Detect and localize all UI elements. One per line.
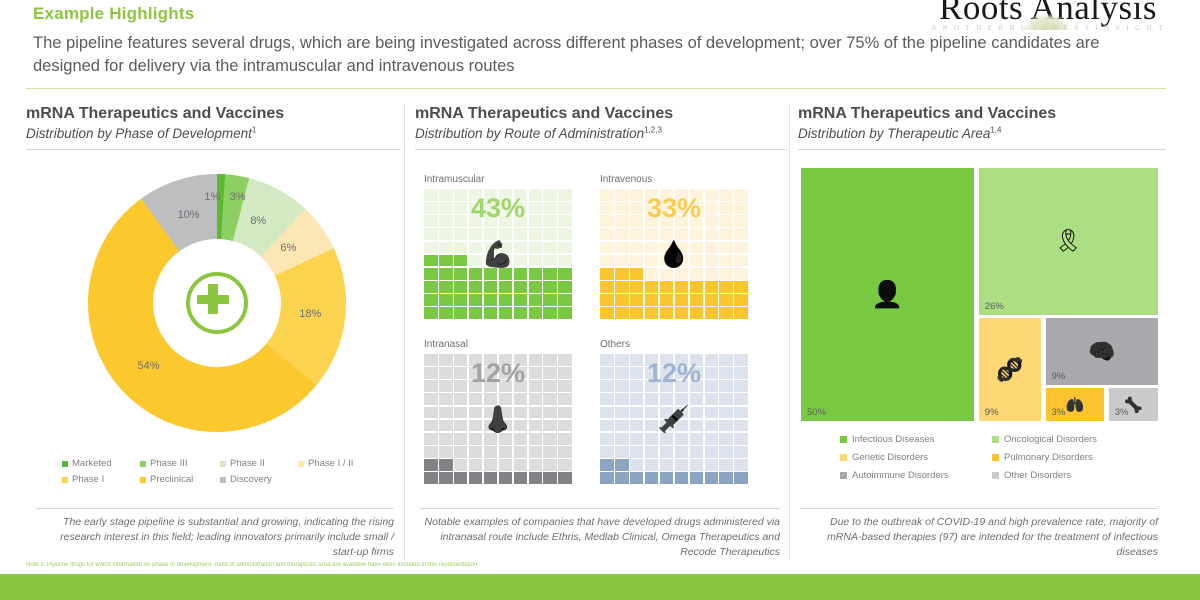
waffle-cell bbox=[600, 294, 614, 306]
waffle-cell bbox=[690, 294, 704, 306]
waffle-cell bbox=[690, 242, 704, 254]
slide: Example Highlights The pipeline features… bbox=[0, 0, 1200, 600]
waffle-cell bbox=[615, 393, 629, 405]
medical-cross-icon bbox=[186, 272, 248, 334]
header-subtitle: The pipeline features several drugs, whi… bbox=[33, 32, 1158, 78]
waffle-cell bbox=[484, 268, 498, 280]
waffle-cell bbox=[499, 472, 513, 484]
waffle-cell bbox=[645, 281, 659, 293]
waffle-cell bbox=[424, 215, 438, 227]
waffle-caption: Intravenous bbox=[600, 174, 748, 185]
waffle-cell bbox=[675, 407, 689, 419]
waffle-cell bbox=[529, 472, 543, 484]
waffle-cell bbox=[705, 393, 719, 405]
waffle-cell bbox=[719, 420, 733, 432]
waffle-cell bbox=[469, 472, 483, 484]
waffle-cell bbox=[719, 228, 733, 240]
waffle-grid: 43%💪 bbox=[424, 189, 572, 319]
waffle-cell bbox=[543, 242, 557, 254]
legend-item-phase-ii[interactable]: Phase II bbox=[220, 458, 298, 469]
waffle-cell bbox=[630, 189, 644, 201]
waffle-cell bbox=[499, 255, 513, 267]
waffle-cell bbox=[630, 420, 644, 432]
legend-item-oncological-disorders[interactable]: Oncological Disorders bbox=[992, 434, 1144, 445]
donut-label-discovery: 10% bbox=[178, 209, 200, 221]
panel-subtitle-footnote-ref: 1,2,3 bbox=[644, 126, 662, 135]
waffle-cell bbox=[454, 189, 468, 201]
head-virus-icon: 👤 bbox=[801, 168, 974, 421]
waffle-cell bbox=[454, 433, 468, 445]
legend-row: Genetic DisordersPulmonary Disorders bbox=[840, 452, 1160, 463]
waffle-intranasal: Intranasal12%👃 bbox=[424, 339, 572, 484]
waffle-cell bbox=[660, 294, 674, 306]
waffle-cell bbox=[660, 242, 674, 254]
waffle-cell bbox=[600, 459, 614, 471]
waffle-cell bbox=[705, 242, 719, 254]
waffle-cell bbox=[734, 367, 748, 379]
legend-label: Phase I / II bbox=[308, 458, 353, 469]
waffle-cell bbox=[499, 354, 513, 366]
waffle-cell bbox=[705, 255, 719, 267]
legend-item-other-disorders[interactable]: Other Disorders bbox=[992, 470, 1144, 481]
panel-divider bbox=[26, 149, 401, 150]
waffle-cell bbox=[454, 393, 468, 405]
legend-item-marketed[interactable]: Marketed bbox=[62, 458, 140, 469]
waffle-cell bbox=[600, 354, 614, 366]
legend-item-discovery[interactable]: Discovery bbox=[220, 474, 298, 485]
treemap-node-value: 50% bbox=[807, 407, 826, 418]
waffle-cell bbox=[454, 446, 468, 458]
waffle-cell bbox=[734, 420, 748, 432]
waffle-cell bbox=[558, 354, 572, 366]
waffle-cell bbox=[645, 433, 659, 445]
waffle-cell bbox=[719, 354, 733, 366]
panel-subtitle-text: Distribution by Route of Administration bbox=[415, 126, 644, 141]
waffle-cell bbox=[615, 380, 629, 392]
waffle-cell bbox=[600, 228, 614, 240]
waffle-cell bbox=[705, 268, 719, 280]
waffle-cell bbox=[734, 354, 748, 366]
waffle-cell bbox=[675, 255, 689, 267]
waffle-cell bbox=[424, 446, 438, 458]
waffle-cell bbox=[734, 459, 748, 471]
waffle-cell bbox=[558, 393, 572, 405]
waffle-cell bbox=[675, 307, 689, 319]
legend-swatch bbox=[140, 477, 146, 483]
legend-row: Autoimmune DisordersOther Disorders bbox=[840, 470, 1160, 481]
waffle-cell bbox=[600, 202, 614, 214]
waffle-cell bbox=[543, 202, 557, 214]
waffle-cell bbox=[660, 255, 674, 267]
treemap-node-value: 3% bbox=[1115, 407, 1129, 418]
waffle-cell bbox=[514, 472, 528, 484]
waffle-cell bbox=[660, 459, 674, 471]
panel-subtitle-footnote-ref: 1,4 bbox=[990, 126, 1001, 135]
waffle-cell bbox=[469, 307, 483, 319]
waffle-cell bbox=[484, 215, 498, 227]
legend-item-genetic-disorders[interactable]: Genetic Disorders bbox=[840, 452, 992, 463]
waffle-cell bbox=[484, 472, 498, 484]
legend-label: Marketed bbox=[72, 458, 112, 469]
legend-label: Preclinical bbox=[150, 474, 193, 485]
waffle-cell bbox=[424, 228, 438, 240]
legend-item-infectious-diseases[interactable]: Infectious Diseases bbox=[840, 434, 992, 445]
waffle-cell bbox=[439, 215, 453, 227]
waffle-cell bbox=[645, 255, 659, 267]
waffle-cell bbox=[469, 407, 483, 419]
waffle-cell bbox=[675, 472, 689, 484]
waffle-cell bbox=[454, 294, 468, 306]
panel-subtitle: Distribution by Therapeutic Area1,4 bbox=[798, 125, 1166, 143]
waffle-cell bbox=[454, 281, 468, 293]
waffle-cell bbox=[645, 268, 659, 280]
panel-phase-of-development: mRNA Therapeutics and Vaccines Distribut… bbox=[26, 104, 401, 150]
waffle-cell bbox=[705, 281, 719, 293]
waffle-cell bbox=[439, 472, 453, 484]
legend-swatch bbox=[62, 461, 68, 467]
waffle-cell bbox=[543, 393, 557, 405]
waffle-cell bbox=[499, 459, 513, 471]
waffle-cell bbox=[514, 294, 528, 306]
waffle-cell bbox=[675, 202, 689, 214]
waffle-cell bbox=[705, 433, 719, 445]
waffle-cell bbox=[514, 268, 528, 280]
waffle-cell bbox=[454, 407, 468, 419]
footer-note: Note 1: Pipeline drugs for which informa… bbox=[26, 562, 1166, 569]
waffle-cell bbox=[543, 367, 557, 379]
waffle-cell bbox=[514, 215, 528, 227]
waffle-cell bbox=[615, 281, 629, 293]
waffle-cell bbox=[484, 380, 498, 392]
legend-swatch bbox=[298, 461, 304, 467]
legend-label: Autoimmune Disorders bbox=[852, 470, 949, 481]
waffle-cell bbox=[615, 294, 629, 306]
waffle-cell bbox=[543, 281, 557, 293]
waffle-cell bbox=[705, 367, 719, 379]
waffle-cell bbox=[734, 393, 748, 405]
waffle-cell bbox=[734, 446, 748, 458]
waffle-cell bbox=[439, 281, 453, 293]
waffle-cell bbox=[454, 307, 468, 319]
waffle-cell bbox=[529, 242, 543, 254]
treemap-node-oncological-disorders[interactable]: 🎗26% bbox=[979, 168, 1158, 315]
waffle-cell bbox=[529, 433, 543, 445]
treemap-node-value: 9% bbox=[985, 407, 999, 418]
waffle-cell bbox=[499, 202, 513, 214]
waffle-cell bbox=[499, 268, 513, 280]
waffle-cell bbox=[600, 242, 614, 254]
waffle-cell bbox=[439, 367, 453, 379]
legend-item-phase-i[interactable]: Phase I bbox=[62, 474, 140, 485]
legend-label: Phase I bbox=[72, 474, 104, 485]
waffle-caption: Intramuscular bbox=[424, 174, 572, 185]
waffle-cell bbox=[630, 433, 644, 445]
treemap-chart: 👤50%🎗26%🧬9%🧠9%🫁3%🦴3% bbox=[801, 168, 1158, 421]
waffle-cell bbox=[454, 420, 468, 432]
waffle-cell bbox=[514, 446, 528, 458]
waffle-cell bbox=[705, 307, 719, 319]
waffle-cell bbox=[484, 354, 498, 366]
waffle-cell bbox=[690, 307, 704, 319]
waffle-cell bbox=[705, 354, 719, 366]
waffle-cell bbox=[600, 393, 614, 405]
legend-label: Oncological Disorders bbox=[1004, 434, 1097, 445]
legend-item-phase-iii[interactable]: Phase III bbox=[140, 458, 220, 469]
donut-label-phase-iii: 3% bbox=[230, 191, 246, 203]
waffle-cell bbox=[675, 242, 689, 254]
waffle-cell bbox=[514, 242, 528, 254]
waffle-cell bbox=[719, 189, 733, 201]
waffle-cell bbox=[630, 367, 644, 379]
waffle-cell bbox=[615, 228, 629, 240]
waffle-cell bbox=[424, 202, 438, 214]
donut-label-marketed: 1% bbox=[204, 191, 220, 203]
waffle-cell bbox=[660, 215, 674, 227]
waffle-cell bbox=[499, 367, 513, 379]
legend-swatch bbox=[992, 454, 999, 461]
waffle-cell bbox=[469, 189, 483, 201]
waffle-cell bbox=[734, 407, 748, 419]
waffle-cell bbox=[439, 354, 453, 366]
waffle-cell bbox=[424, 420, 438, 432]
donut-label-phase-i-ii: 6% bbox=[280, 242, 296, 254]
waffle-cell bbox=[529, 202, 543, 214]
waffle-cell bbox=[469, 228, 483, 240]
waffle-cell bbox=[543, 380, 557, 392]
waffle-cell bbox=[529, 459, 543, 471]
waffle-cell bbox=[719, 380, 733, 392]
waffle-cell bbox=[439, 202, 453, 214]
waffle-cell bbox=[484, 255, 498, 267]
waffle-cell bbox=[705, 459, 719, 471]
panel-subtitle-text: Distribution by Therapeutic Area bbox=[798, 126, 990, 141]
treemap-node-value: 9% bbox=[1052, 371, 1066, 382]
waffle-cell bbox=[690, 459, 704, 471]
waffle-cell bbox=[558, 367, 572, 379]
waffle-cell bbox=[514, 202, 528, 214]
waffle-cell bbox=[734, 472, 748, 484]
waffle-cell bbox=[543, 189, 557, 201]
waffle-cell bbox=[424, 459, 438, 471]
waffle-cell bbox=[469, 433, 483, 445]
waffle-cell bbox=[439, 189, 453, 201]
panel-subtitle-text: Distribution by Phase of Development bbox=[26, 126, 252, 141]
waffle-cell bbox=[499, 407, 513, 419]
waffle-cell bbox=[499, 242, 513, 254]
legend-item-pulmonary-disorders[interactable]: Pulmonary Disorders bbox=[992, 452, 1144, 463]
waffle-cell bbox=[529, 407, 543, 419]
legend-row: Phase IPreclinicalDiscovery bbox=[62, 474, 392, 485]
waffle-cell bbox=[469, 215, 483, 227]
waffle-cell bbox=[705, 380, 719, 392]
waffle-cell bbox=[705, 228, 719, 240]
waffle-cell bbox=[630, 446, 644, 458]
waffle-cell bbox=[439, 255, 453, 267]
waffle-intravenous: Intravenous33%🩸 bbox=[600, 174, 748, 319]
waffle-cell bbox=[600, 380, 614, 392]
waffle-cell bbox=[705, 202, 719, 214]
waffle-cell bbox=[690, 420, 704, 432]
waffle-cell bbox=[630, 268, 644, 280]
waffle-cell bbox=[615, 433, 629, 445]
waffle-cell bbox=[424, 189, 438, 201]
waffle-cell bbox=[558, 472, 572, 484]
waffle-cell bbox=[469, 367, 483, 379]
waffle-cell bbox=[645, 420, 659, 432]
waffle-cell bbox=[454, 380, 468, 392]
waffle-cell bbox=[719, 472, 733, 484]
waffle-cell bbox=[675, 459, 689, 471]
waffle-cell bbox=[514, 407, 528, 419]
panel-title: mRNA Therapeutics and Vaccines bbox=[26, 104, 401, 124]
waffle-cell bbox=[600, 189, 614, 201]
waffle-cell bbox=[600, 367, 614, 379]
legend-label: Infectious Diseases bbox=[852, 434, 934, 445]
waffle-cell bbox=[645, 294, 659, 306]
waffle-cell bbox=[675, 393, 689, 405]
waffle-cell bbox=[558, 228, 572, 240]
waffle-cell bbox=[600, 433, 614, 445]
waffle-cell bbox=[454, 242, 468, 254]
waffle-cell bbox=[424, 433, 438, 445]
waffle-cell bbox=[439, 433, 453, 445]
waffle-cell bbox=[543, 459, 557, 471]
waffle-cell bbox=[484, 407, 498, 419]
waffle-cell bbox=[439, 380, 453, 392]
waffle-grid: 33%🩸 bbox=[600, 189, 748, 319]
waffle-cell bbox=[424, 281, 438, 293]
waffle-cell bbox=[499, 189, 513, 201]
waffle-cell bbox=[529, 228, 543, 240]
waffle-cell bbox=[645, 215, 659, 227]
legend-swatch bbox=[220, 461, 226, 467]
treemap-node-pulmonary-disorders[interactable]: 🫁3% bbox=[1046, 388, 1105, 421]
treemap-node-infectious-diseases[interactable]: 👤50% bbox=[801, 168, 974, 421]
waffle-cell bbox=[469, 281, 483, 293]
treemap-node-value: 26% bbox=[985, 301, 1004, 312]
dna-icon: 🧬 bbox=[979, 318, 1041, 421]
waffle-cell bbox=[615, 367, 629, 379]
legend-swatch bbox=[840, 454, 847, 461]
waffle-cell bbox=[514, 433, 528, 445]
waffle-cell bbox=[690, 255, 704, 267]
waffle-cell bbox=[439, 268, 453, 280]
waffle-cell bbox=[484, 228, 498, 240]
waffle-cell bbox=[645, 189, 659, 201]
waffle-cell bbox=[558, 202, 572, 214]
waffle-cell bbox=[514, 420, 528, 432]
waffle-cell bbox=[630, 307, 644, 319]
treemap-node-genetic-disorders[interactable]: 🧬9% bbox=[979, 318, 1041, 421]
waffle-cell bbox=[660, 281, 674, 293]
legend-row: MarketedPhase IIIPhase IIPhase I / II bbox=[62, 458, 392, 469]
waffle-cell bbox=[690, 215, 704, 227]
waffle-cell bbox=[484, 433, 498, 445]
waffle-cell bbox=[660, 228, 674, 240]
panel-divider-1 bbox=[404, 104, 405, 559]
waffle-cell bbox=[454, 255, 468, 267]
waffle-cell bbox=[734, 433, 748, 445]
waffle-cell bbox=[705, 407, 719, 419]
waffle-cell bbox=[600, 215, 614, 227]
waffle-cell bbox=[660, 307, 674, 319]
treemap-node-autoimmune-disorders[interactable]: 🧠9% bbox=[1046, 318, 1158, 385]
waffle-cell bbox=[484, 307, 498, 319]
waffle-cell bbox=[734, 228, 748, 240]
waffle-cell bbox=[675, 446, 689, 458]
waffle-cell bbox=[558, 433, 572, 445]
waffle-grid: 12%👃 bbox=[424, 354, 572, 484]
waffle-cell bbox=[645, 242, 659, 254]
waffle-cell bbox=[558, 281, 572, 293]
waffle-cell bbox=[600, 420, 614, 432]
waffle-cell bbox=[439, 294, 453, 306]
waffle-cell bbox=[558, 215, 572, 227]
waffle-cell bbox=[514, 354, 528, 366]
waffle-cell bbox=[734, 294, 748, 306]
waffle-cell bbox=[645, 228, 659, 240]
legend-label: Phase II bbox=[230, 458, 265, 469]
waffle-cell bbox=[615, 354, 629, 366]
awareness-ribbon-icon: 🎗 bbox=[979, 168, 1158, 315]
waffle-cell bbox=[514, 189, 528, 201]
waffle-cell bbox=[615, 215, 629, 227]
panel-subtitle: Distribution by Route of Administration1… bbox=[415, 125, 787, 143]
treemap-node-other-disorders[interactable]: 🦴3% bbox=[1109, 388, 1158, 421]
waffle-cell bbox=[469, 294, 483, 306]
footnote-route: Notable examples of companies that have … bbox=[420, 508, 780, 561]
waffle-cell bbox=[719, 393, 733, 405]
waffle-cell bbox=[484, 294, 498, 306]
waffle-cell bbox=[439, 420, 453, 432]
waffle-cell bbox=[734, 215, 748, 227]
waffle-cell bbox=[734, 268, 748, 280]
waffle-cell bbox=[529, 420, 543, 432]
waffle-cell bbox=[514, 393, 528, 405]
waffle-cell bbox=[469, 420, 483, 432]
waffle-cell bbox=[514, 281, 528, 293]
legend-row: Infectious DiseasesOncological Disorders bbox=[840, 434, 1160, 445]
brand-tagline: A N O T H E R B U S I N E S S I N S I G … bbox=[900, 24, 1196, 32]
legend-item-autoimmune-disorders[interactable]: Autoimmune Disorders bbox=[840, 470, 992, 481]
waffle-cell bbox=[719, 215, 733, 227]
legend-item-preclinical[interactable]: Preclinical bbox=[140, 474, 220, 485]
waffle-cell bbox=[690, 367, 704, 379]
waffle-cell bbox=[630, 354, 644, 366]
waffle-cell bbox=[499, 380, 513, 392]
legend-item-phase-i-ii[interactable]: Phase I / II bbox=[298, 458, 378, 469]
waffle-cell bbox=[719, 307, 733, 319]
legend-label: Phase III bbox=[150, 458, 188, 469]
waffle-cell bbox=[424, 294, 438, 306]
waffle-cell bbox=[645, 407, 659, 419]
waffle-cell bbox=[615, 202, 629, 214]
panel-title: mRNA Therapeutics and Vaccines bbox=[415, 104, 787, 124]
waffle-cell bbox=[734, 202, 748, 214]
waffle-cell bbox=[529, 393, 543, 405]
waffle-cell bbox=[454, 459, 468, 471]
waffle-cell bbox=[484, 446, 498, 458]
waffle-cell bbox=[484, 459, 498, 471]
waffle-cell bbox=[675, 281, 689, 293]
waffle-cell bbox=[543, 407, 557, 419]
waffle-cell bbox=[558, 407, 572, 419]
waffle-cell bbox=[558, 307, 572, 319]
waffle-cell bbox=[705, 446, 719, 458]
waffle-cell bbox=[529, 268, 543, 280]
waffle-cell bbox=[469, 354, 483, 366]
panel-subtitle-footnote-ref: 1 bbox=[252, 126, 256, 135]
